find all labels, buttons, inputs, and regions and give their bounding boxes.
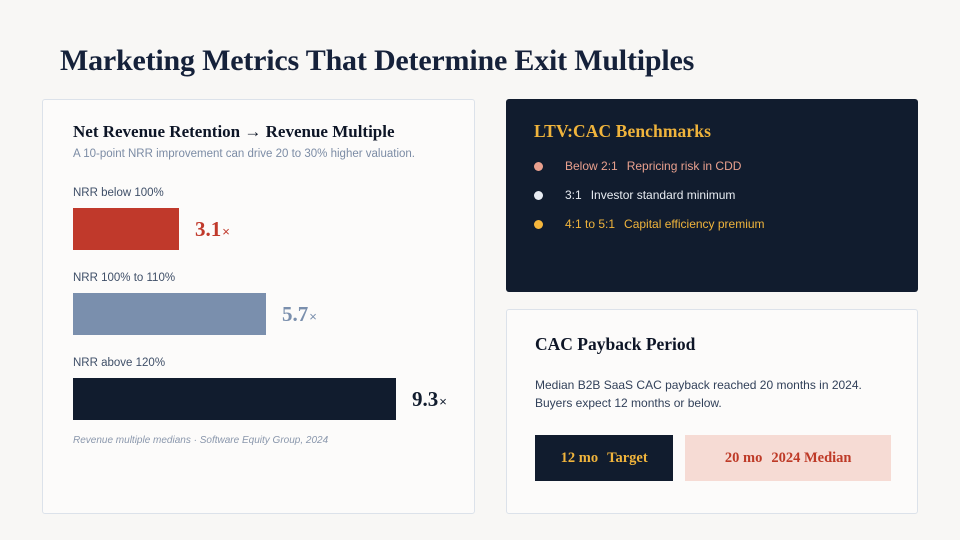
list-item: 3:1Investor standard minimum [534,188,892,202]
badge-label: Target [607,450,648,467]
ltv-item-desc: Repricing risk in CDD [627,159,742,173]
nrr-card-heading: Net Revenue Retention → Revenue Multiple [73,122,413,143]
ltv-item-text: Below 2:1Repricing risk in CDD [565,159,741,173]
status-badge-median: 20 mo2024 Median [685,435,891,481]
cac-card-heading: CAC Payback Period [535,334,891,355]
nrr-revenue-multiple-card: Net Revenue Retention → Revenue Multiple… [42,99,475,514]
badge-number: 20 mo [725,450,762,467]
bar-label: NRR above 120% [73,357,450,369]
bar-value: 5.7× [282,304,317,325]
bullet-dot-icon [534,162,543,171]
cac-payback-period-card: CAC Payback Period Median B2B SaaS CAC p… [506,309,918,514]
nrr-source-footnote: Revenue multiple medians · Software Equi… [73,435,450,446]
page-title: Marketing Metrics That Determine Exit Mu… [60,44,694,78]
ltv-cac-benchmarks-card: LTV:CAC Benchmarks Below 2:1Repricing ri… [506,99,918,292]
badge-label: 2024 Median [771,450,851,467]
ltv-item-tier: Below 2:1 [565,159,618,173]
ltv-item-text: 4:1 to 5:1Capital efficiency premium [565,217,765,231]
bar-value-unit: × [439,394,447,409]
bar-value-unit: × [222,224,230,239]
cac-badge-group: 12 moTarget 20 mo2024 Median [535,435,891,481]
bar-row: 9.3× [73,378,450,420]
ltv-item-text: 3:1Investor standard minimum [565,188,735,202]
bar-label: NRR 100% to 110% [73,272,450,284]
bar-value: 9.3× [412,389,447,410]
ltv-card-heading: LTV:CAC Benchmarks [534,121,892,142]
bar-row: 5.7× [73,293,450,335]
bar-value-number: 3.1 [195,217,221,241]
bar-label: NRR below 100% [73,187,450,199]
ltv-item-desc: Investor standard minimum [591,188,736,202]
bar-fill [73,208,179,250]
bar-group-above-120: NRR above 120% 9.3× [73,357,450,420]
status-badge-target: 12 moTarget [535,435,673,481]
ltv-item-tier: 3:1 [565,188,582,202]
list-item: Below 2:1Repricing risk in CDD [534,159,892,173]
bar-value: 3.1× [195,219,230,240]
bar-fill [73,293,266,335]
bar-value-number: 9.3 [412,387,438,411]
ltv-item-desc: Capital efficiency premium [624,217,765,231]
ltv-benchmark-list: Below 2:1Repricing risk in CDD 3:1Invest… [534,159,892,231]
bar-value-unit: × [309,309,317,324]
list-item: 4:1 to 5:1Capital efficiency premium [534,217,892,231]
ltv-item-tier: 4:1 to 5:1 [565,217,615,231]
bar-value-number: 5.7 [282,302,308,326]
bar-row: 3.1× [73,208,450,250]
badge-number: 12 mo [561,450,598,467]
nrr-card-subtitle: A 10-point NRR improvement can drive 20 … [73,146,418,162]
bullet-dot-icon [534,220,543,229]
bar-group-100-to-110: NRR 100% to 110% 5.7× [73,272,450,335]
bar-fill [73,378,396,420]
cac-card-body: Median B2B SaaS CAC payback reached 20 m… [535,376,880,412]
bullet-dot-icon [534,191,543,200]
bar-group-below-100: NRR below 100% 3.1× [73,187,450,250]
